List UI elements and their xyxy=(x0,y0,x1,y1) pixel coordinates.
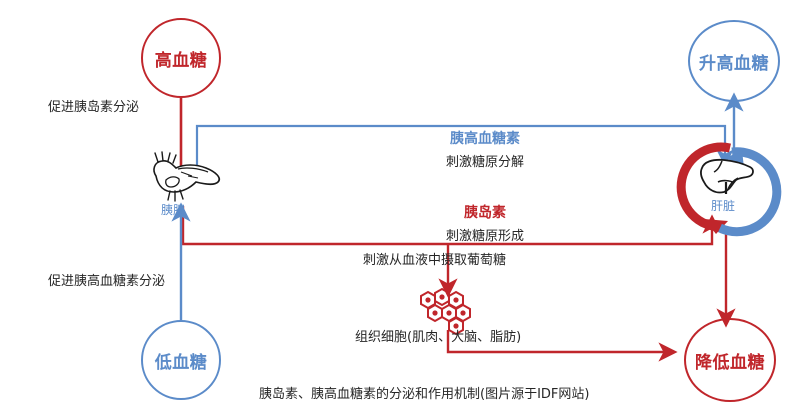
node-low-blood-glucose-label: 低血糖 xyxy=(155,348,208,373)
node-raise-blood-glucose-label: 升高血糖 xyxy=(699,49,769,74)
node-high-blood-glucose-label: 高血糖 xyxy=(155,46,208,71)
label-promote-glucagon-secretion: 促进胰高血糖素分泌 xyxy=(48,273,165,291)
label-tissue-cells: 组织细胞(肌肉、大脑、脂肪) xyxy=(355,329,521,347)
node-lower-blood-glucose-label: 降低血糖 xyxy=(695,348,765,373)
diagram-canvas: 高血糖 升高血糖 低血糖 降低血糖 胰腺 肝脏 促进胰岛素分泌 促进胰高血糖素分… xyxy=(0,0,799,418)
node-lower-blood-glucose[interactable]: 降低血糖 xyxy=(684,318,776,402)
insulin-title: 胰岛素 xyxy=(385,202,585,222)
node-high-blood-glucose[interactable]: 高血糖 xyxy=(141,18,221,98)
glucagon-action: 刺激糖原分解 xyxy=(385,151,585,170)
diagram-caption: 胰岛素、胰高血糖素的分泌和作用机制(图片源于IDF网站) xyxy=(259,383,589,402)
liver-label: 肝脏 xyxy=(711,198,735,214)
label-glucose-uptake: 刺激从血液中摄取葡萄糖 xyxy=(363,252,506,270)
insulin-action: 刺激糖原形成 xyxy=(385,225,585,244)
glucagon-annotation: 胰高血糖素 刺激糖原分解 xyxy=(385,128,585,170)
node-low-blood-glucose[interactable]: 低血糖 xyxy=(141,320,221,400)
tissue-cells-icon xyxy=(421,289,470,334)
glucagon-title: 胰高血糖素 xyxy=(385,128,585,148)
liver-icon xyxy=(701,160,753,194)
insulin-annotation: 胰岛素 刺激糖原形成 xyxy=(385,202,585,244)
label-promote-insulin-secretion: 促进胰岛素分泌 xyxy=(48,99,139,117)
node-raise-blood-glucose[interactable]: 升高血糖 xyxy=(688,20,780,102)
pancreas-icon xyxy=(154,152,219,201)
pancreas-label: 胰腺 xyxy=(161,202,185,218)
